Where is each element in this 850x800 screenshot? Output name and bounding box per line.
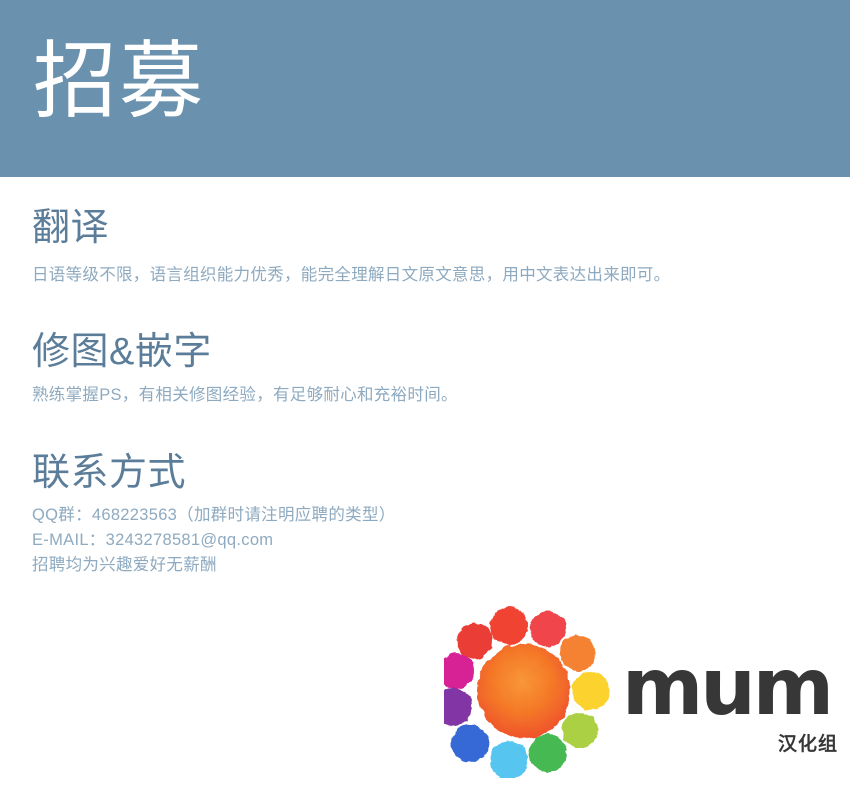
section-translation-heading: 翻译	[32, 207, 818, 250]
dot-magenta	[444, 653, 474, 689]
dot-green	[529, 734, 567, 772]
dot-purple	[444, 688, 472, 726]
contact-line-qq-group: QQ群：468223563（加群时请注明应聘的类型）	[32, 503, 818, 528]
group-logo: mum 汉化组	[444, 603, 844, 793]
dot-blue	[451, 724, 489, 762]
contact-lines: QQ群：468223563（加群时请注明应聘的类型） E-MAIL：324327…	[32, 503, 818, 578]
dot-red-top-left	[457, 623, 493, 659]
dot-yellow	[572, 672, 610, 710]
dot-light-blue	[490, 741, 528, 778]
section-contact-heading: 联系方式	[32, 452, 818, 495]
section-editing: 修图&嵌字 熟练掌握PS，有相关修图经验，有足够耐心和充裕时间。	[32, 331, 818, 407]
logo-subtitle: 汉化组	[622, 729, 840, 756]
content-area: 翻译 日语等级不限，语言组织能力优秀，能完全理解日文原文意思，用中文表达出来即可…	[0, 207, 850, 578]
contact-line-email: E-MAIL：3243278581@qq.com	[32, 528, 818, 553]
dot-yellow-green	[562, 712, 598, 748]
dot-red-top	[490, 607, 528, 645]
section-editing-body: 熟练掌握PS，有相关修图经验，有足够耐心和充裕时间。	[32, 383, 818, 408]
contact-line-note: 招聘均为兴趣爱好无薪酬	[32, 553, 818, 578]
section-translation: 翻译 日语等级不限，语言组织能力优秀，能完全理解日文原文意思，用中文表达出来即可…	[32, 207, 818, 287]
dot-orange	[560, 635, 596, 671]
header-banner: 招募	[0, 0, 850, 177]
logo-text-block: mum 汉化组	[622, 655, 840, 756]
section-contact: 联系方式 QQ群：468223563（加群时请注明应聘的类型） E-MAIL：3…	[32, 452, 818, 579]
section-editing-heading: 修图&嵌字	[32, 331, 818, 374]
page-title: 招募	[33, 33, 205, 130]
section-translation-body: 日语等级不限，语言组织能力优秀，能完全理解日文原文意思，用中文表达出来即可。	[32, 263, 818, 288]
logo-wordmark: mum	[622, 655, 840, 721]
watercolor-sun-icon	[444, 603, 619, 778]
dot-crimson-top	[530, 611, 566, 647]
